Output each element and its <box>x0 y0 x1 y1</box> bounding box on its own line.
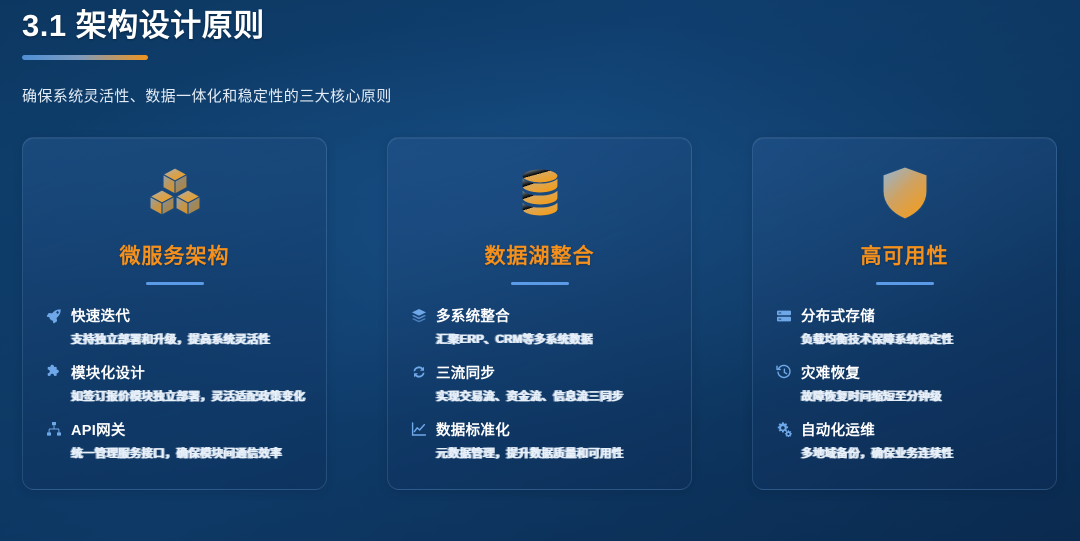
feature-name: 分布式存储 <box>801 305 875 326</box>
sitemap-icon <box>45 421 62 438</box>
card-title-rule <box>511 282 569 285</box>
database-icon <box>404 162 675 224</box>
feature-item[interactable]: 分布式存储 负载均衡技术保障系统稳定性 <box>775 305 1040 350</box>
feature-desc: 故障恢复时间缩短至分钟级 <box>801 389 1040 407</box>
principle-card[interactable]: 数据湖整合 多系统整合 汇聚ERP、CRM等多系统 <box>387 137 692 490</box>
card-title: 数据湖整合 <box>404 240 675 270</box>
feature-name: 灾难恢复 <box>801 362 860 383</box>
feature-heading: 快速迭代 <box>45 305 310 326</box>
page-subtitle: 确保系统灵活性、数据一体化和稳定性的三大核心原则 <box>22 85 1022 106</box>
feature-item[interactable]: 多系统整合 汇聚ERP、CRM等多系统数据 <box>410 305 675 350</box>
feature-name: 数据标准化 <box>436 419 510 440</box>
feature-desc: 实现交易流、资金流、信息流三同步 <box>436 389 675 407</box>
puzzle-piece-icon <box>45 364 62 381</box>
feature-item[interactable]: 模块化设计 如签订报价模块独立部署，灵活适配政策变化 <box>45 362 310 407</box>
clock-rotate-icon <box>775 364 792 381</box>
feature-item[interactable]: 自动化运维 多地域备份，确保业务连续性 <box>775 419 1040 464</box>
feature-heading: 三流同步 <box>410 362 675 383</box>
server-icon <box>775 307 792 324</box>
feature-heading: 自动化运维 <box>775 419 1040 440</box>
feature-item[interactable]: 灾难恢复 故障恢复时间缩短至分钟级 <box>775 362 1040 407</box>
chart-line-icon <box>410 421 427 438</box>
feature-desc: 多地域备份，确保业务连续性 <box>801 446 1040 464</box>
title-accent-rule <box>22 55 148 60</box>
feature-item[interactable]: 快速迭代 支持独立部署和升级，提高系统灵活性 <box>45 305 310 350</box>
card-title: 微服务架构 <box>39 240 310 270</box>
feature-name: 三流同步 <box>436 362 495 383</box>
page-title: 3.1 架构设计原则 <box>22 6 1022 46</box>
feature-item[interactable]: 三流同步 实现交易流、资金流、信息流三同步 <box>410 362 675 407</box>
shield-icon <box>769 162 1040 224</box>
principle-card[interactable]: 高可用性 分布式存储 <box>752 137 1057 490</box>
card-title: 高可用性 <box>769 240 1040 270</box>
slide-root: 3.1 架构设计原则 确保系统灵活性、数据一体化和稳定性的三大核心原则 <box>0 0 1080 541</box>
feature-item[interactable]: 数据标准化 元数据管理，提升数据质量和可用性 <box>410 419 675 464</box>
feature-desc: 支持独立部署和升级，提高系统灵活性 <box>71 332 310 350</box>
feature-name: 多系统整合 <box>436 305 510 326</box>
cubes-icon <box>39 162 310 224</box>
feature-desc: 如签订报价模块独立部署，灵活适配政策变化 <box>71 389 310 407</box>
gears-icon <box>775 421 792 438</box>
feature-desc: 元数据管理，提升数据质量和可用性 <box>436 446 675 464</box>
feature-heading: 多系统整合 <box>410 305 675 326</box>
feature-list: 快速迭代 支持独立部署和升级，提高系统灵活性 模块化设计 如签订报价模块独立部署… <box>39 305 310 463</box>
card-title-rule <box>876 282 934 285</box>
feature-desc: 汇聚ERP、CRM等多系统数据 <box>436 332 675 350</box>
feature-heading: 数据标准化 <box>410 419 675 440</box>
rocket-icon <box>45 307 62 324</box>
feature-list: 多系统整合 汇聚ERP、CRM等多系统数据 三流同步 <box>404 305 675 463</box>
slide-header: 3.1 架构设计原则 确保系统灵活性、数据一体化和稳定性的三大核心原则 <box>22 6 1022 106</box>
feature-heading: 分布式存储 <box>775 305 1040 326</box>
layers-icon <box>410 307 427 324</box>
sync-icon <box>410 364 427 381</box>
feature-desc: 负载均衡技术保障系统稳定性 <box>801 332 1040 350</box>
feature-item[interactable]: API网关 统一管理服务接口，确保模块间通信效率 <box>45 419 310 464</box>
principle-card[interactable]: 微服务架构 快速迭代 支持独立部署和升级，提高系统灵活性 <box>22 137 327 490</box>
principle-card-row: 微服务架构 快速迭代 支持独立部署和升级，提高系统灵活性 <box>22 137 1058 490</box>
feature-heading: 灾难恢复 <box>775 362 1040 383</box>
feature-name: 快速迭代 <box>71 305 130 326</box>
feature-list: 分布式存储 负载均衡技术保障系统稳定性 灾难恢复 <box>769 305 1040 463</box>
feature-name: 自动化运维 <box>801 419 875 440</box>
feature-heading: 模块化设计 <box>45 362 310 383</box>
feature-desc: 统一管理服务接口，确保模块间通信效率 <box>71 446 310 464</box>
feature-name: 模块化设计 <box>71 362 145 383</box>
feature-heading: API网关 <box>45 419 310 440</box>
card-title-rule <box>146 282 204 285</box>
feature-name: API网关 <box>71 419 126 440</box>
